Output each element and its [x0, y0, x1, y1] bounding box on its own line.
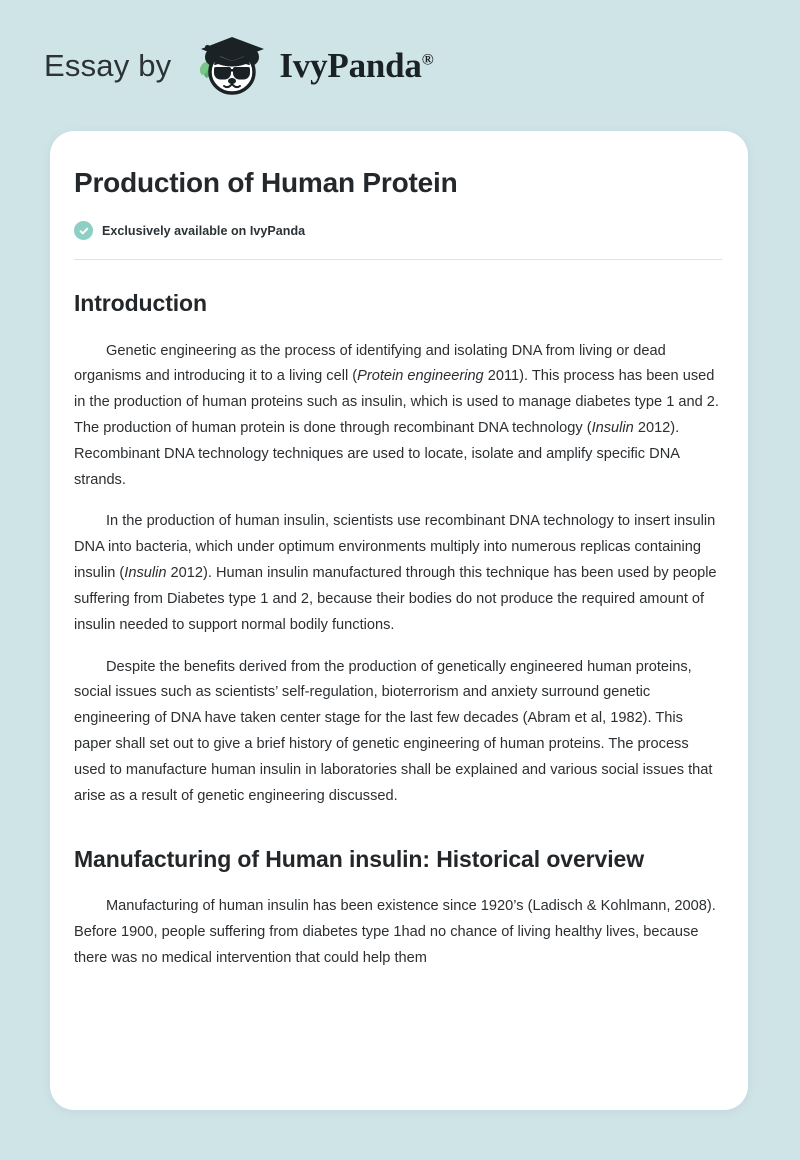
paragraph-text: Despite the benefits derived from the pr… [74, 659, 712, 804]
body-paragraph: Genetic engineering as the process of id… [74, 339, 722, 494]
ivypanda-wordmark: IvyPanda® [279, 48, 433, 83]
essay-body: IntroductionGenetic engineering as the p… [74, 288, 722, 972]
exclusivity-badge-label: Exclusively available on IvyPanda [102, 224, 305, 238]
essay-paper-card: Production of Human Protein Exclusively … [50, 131, 748, 1110]
ivypanda-logo[interactable]: IvyPanda® [189, 32, 433, 100]
body-paragraph: Despite the benefits derived from the pr… [74, 655, 722, 810]
wordmark-text: IvyPanda [279, 46, 421, 85]
body-paragraph: In the production of human insulin, scie… [74, 509, 722, 638]
brand-header: Essay by IvyPa [0, 0, 800, 131]
citation-title-italic: Insulin [592, 420, 634, 436]
body-paragraph: Manufacturing of human insulin has been … [74, 894, 722, 971]
ivypanda-panda-graduation-cap-icon [189, 32, 277, 100]
check-circle-icon [74, 221, 93, 240]
exclusivity-badge: Exclusively available on IvyPanda [74, 221, 722, 240]
paragraph-text: Manufacturing of human insulin has been … [74, 898, 716, 966]
page-title: Production of Human Protein [74, 165, 722, 200]
citation-title-italic: Protein engineering [357, 368, 484, 384]
essay-by-label: Essay by [44, 50, 171, 81]
title-divider [74, 259, 722, 260]
registered-trademark-icon: ® [422, 51, 434, 68]
section-heading: Manufacturing of Human insulin: Historic… [74, 844, 722, 876]
section-heading: Introduction [74, 288, 722, 320]
citation-title-italic: Insulin [124, 565, 166, 581]
paper-content: Production of Human Protein Exclusively … [50, 131, 748, 972]
paragraph-text: 2012). Human insulin manufactured throug… [74, 565, 717, 633]
